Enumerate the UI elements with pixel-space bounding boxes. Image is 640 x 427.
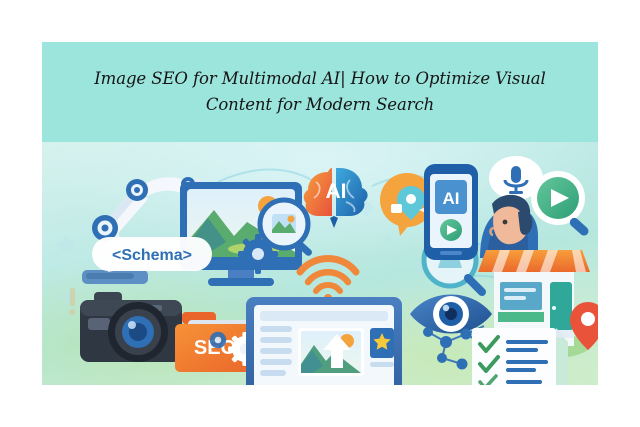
- page-title: Image SEO for Multimodal AI| How to Opti…: [60, 66, 580, 117]
- title-block: Image SEO for Multimodal AI| How to Opti…: [42, 42, 598, 142]
- screenshot-root: Image SEO for Multimodal AI| How to Opti…: [0, 0, 640, 427]
- smartphone-ai-icon: AI: [424, 164, 478, 260]
- schema-badge: <Schema>: [92, 237, 212, 271]
- ai-brain-label: AI: [326, 180, 347, 203]
- illustration-canvas: <Schema>: [42, 142, 598, 385]
- page-title-line-2: Modern Search: [306, 95, 434, 114]
- gear-icon: [210, 332, 227, 349]
- article-featured-image-card: Image SEO for Multimodal AI| How to Opti…: [42, 42, 598, 385]
- ai-brain-icon: AI: [304, 168, 368, 228]
- magnifier-video-play-icon: [531, 171, 590, 237]
- illustration-graphic: <Schema>: [42, 142, 598, 385]
- wifi-signal-icon: [300, 259, 356, 303]
- smartphone-ai-label: AI: [443, 189, 460, 208]
- dslr-camera-icon: [80, 292, 182, 362]
- checklist-document-icon: [472, 328, 568, 385]
- laptop-image-upload-icon: [220, 297, 428, 385]
- schema-badge-label: <Schema>: [112, 247, 192, 264]
